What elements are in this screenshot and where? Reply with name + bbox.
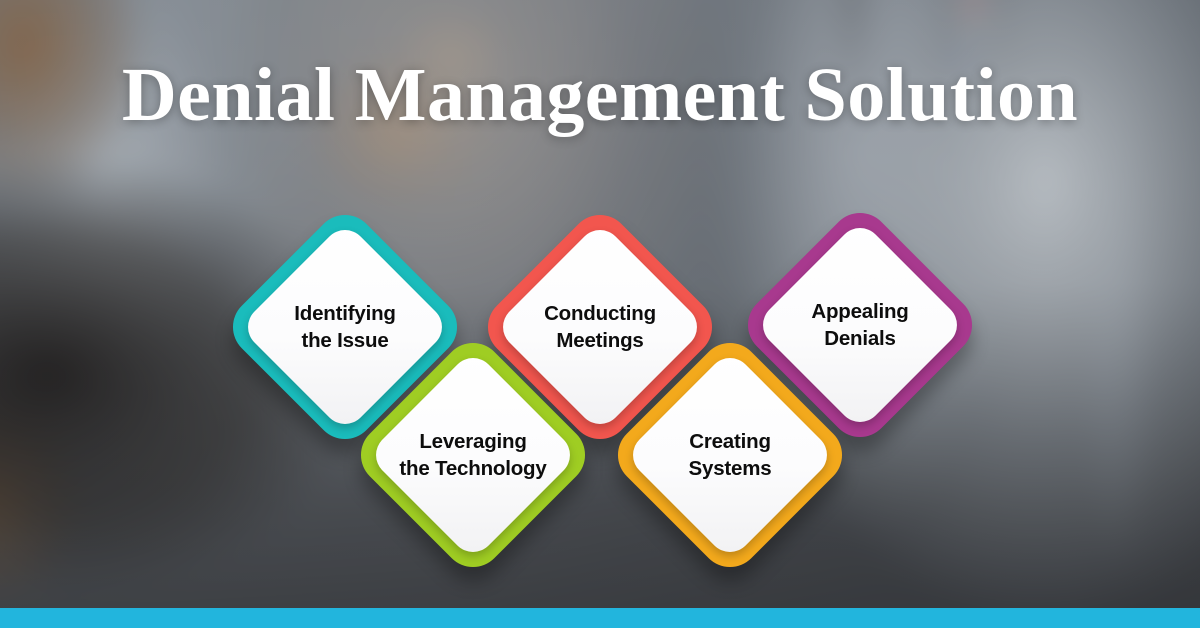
step-label: Creating Systems xyxy=(620,428,840,482)
step-label: Identifying the Issue xyxy=(235,300,455,354)
bottom-accent-bar xyxy=(0,608,1200,628)
banner-graphic: Denial Management Solution Identifying t… xyxy=(0,0,1200,628)
step-label: Leveraging the Technology xyxy=(348,428,598,482)
step-label: Conducting Meetings xyxy=(490,300,710,354)
step-diagram: Identifying the Issue Conducting Meeting… xyxy=(0,0,1200,628)
step-label: Appealing Denials xyxy=(750,298,970,352)
